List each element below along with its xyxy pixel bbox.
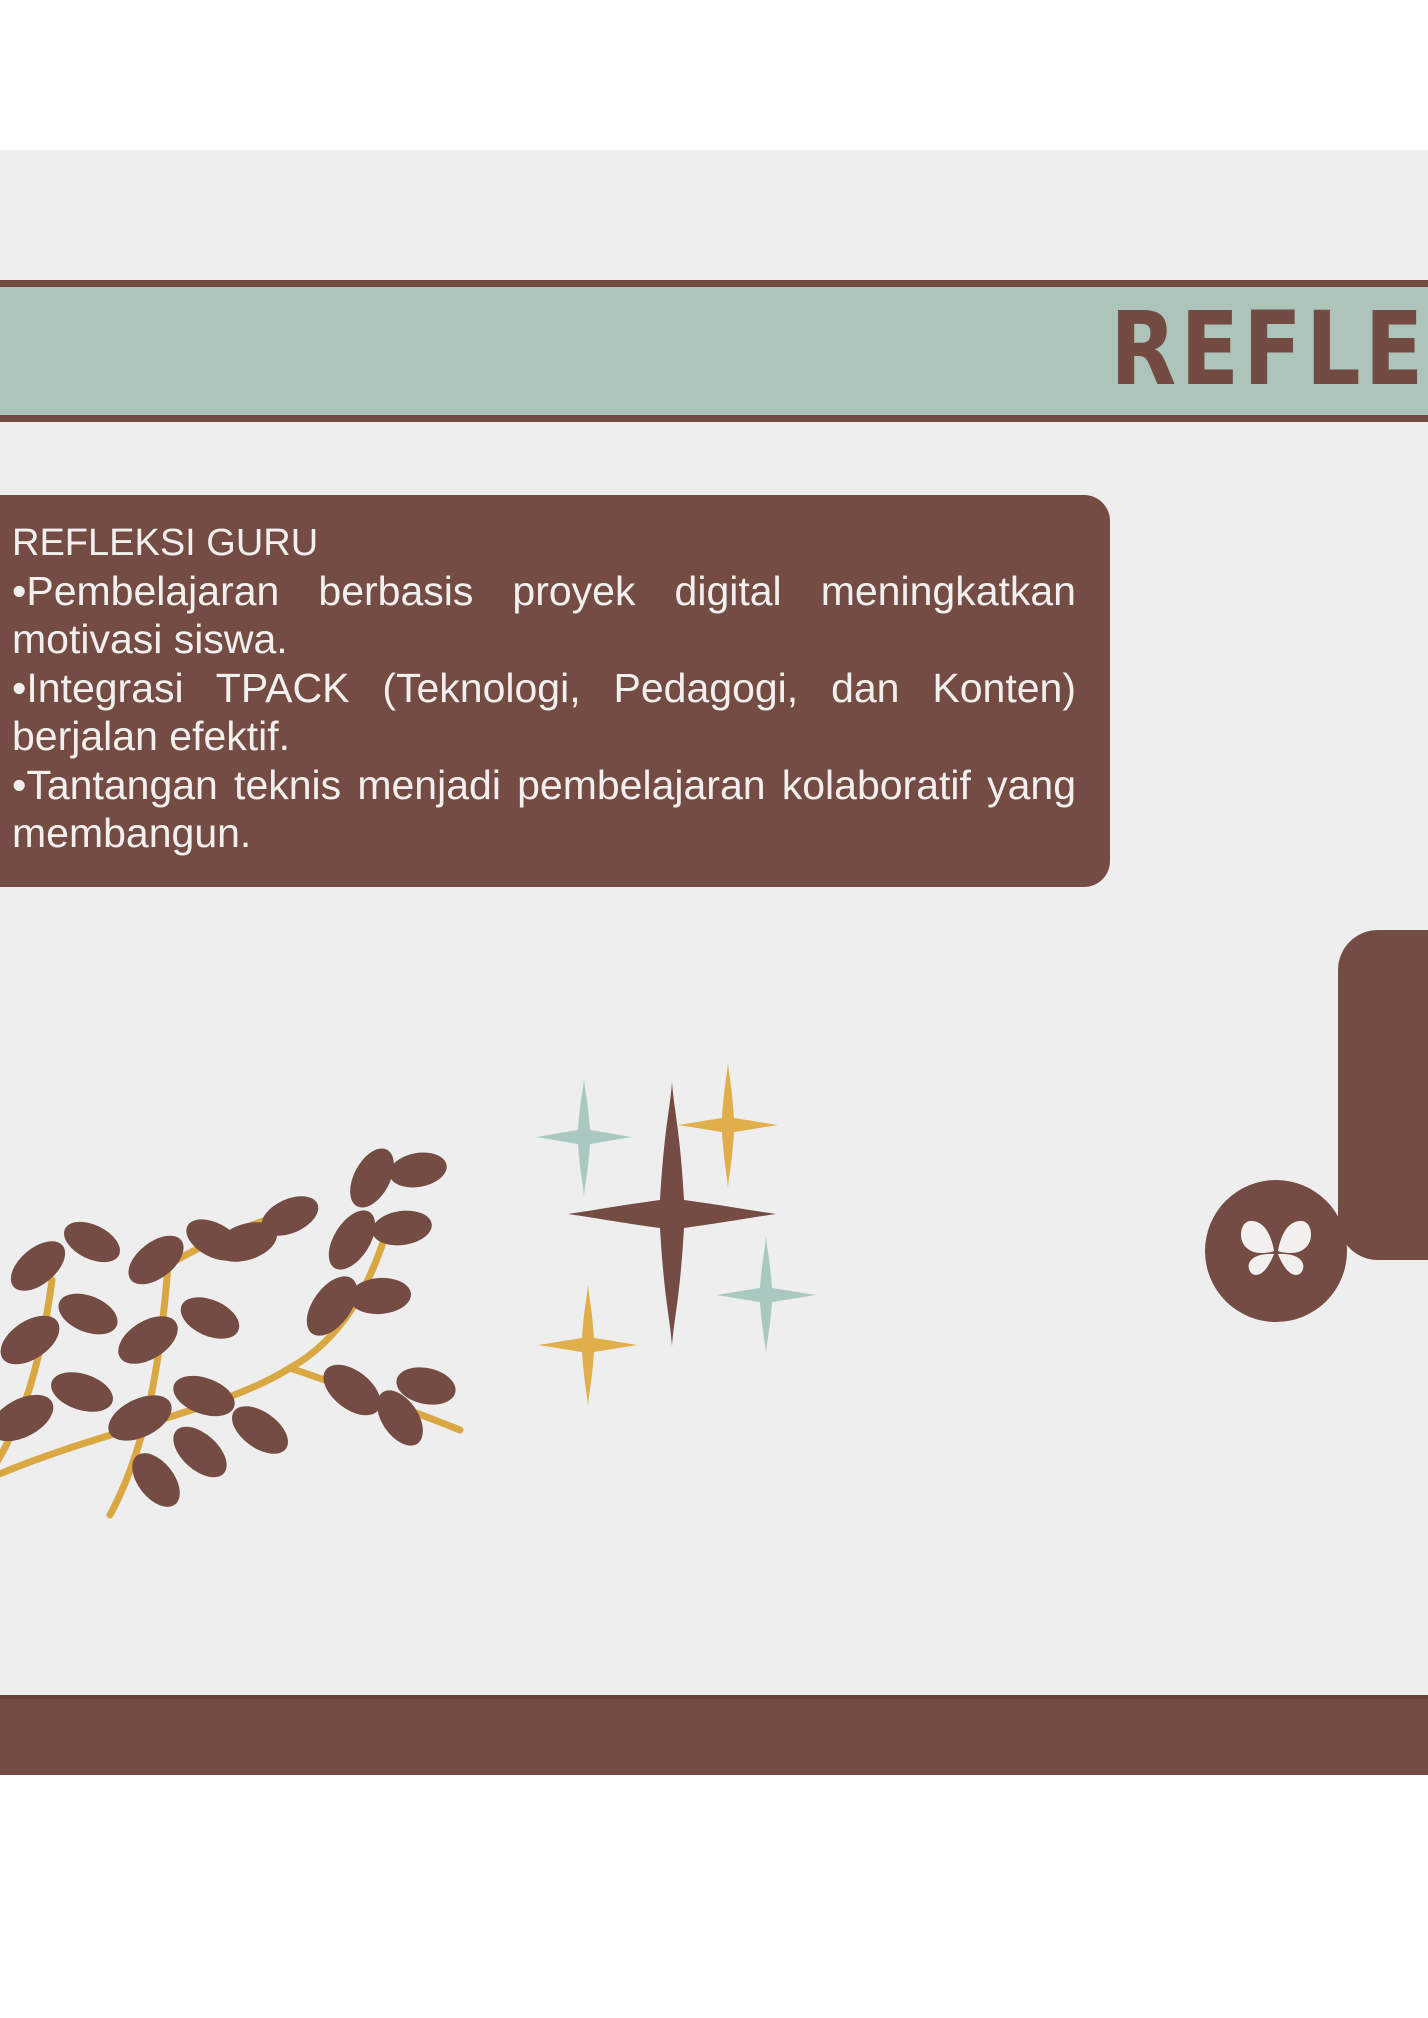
sparkle-large-brown bbox=[568, 1082, 776, 1346]
sparkle-gold-lower bbox=[538, 1284, 638, 1406]
card-heading: REFLEKSI GURU bbox=[12, 521, 1076, 565]
butterfly-icon bbox=[1237, 1215, 1315, 1287]
bullet-item: •Integrasi TPACK (Teknologi, Pedagogi, d… bbox=[12, 664, 1076, 761]
sparkle-small-gold bbox=[678, 1062, 778, 1188]
footer-bar bbox=[0, 1695, 1428, 1775]
right-accent-slab bbox=[1338, 930, 1428, 1260]
slide-canvas: REFLEKSI REFLEKSI GURU •Pembelajaran ber… bbox=[0, 150, 1428, 1775]
bullet-item: •Tantangan teknis menjadi pembelajaran k… bbox=[12, 761, 1076, 858]
bullet-item: •Pembelajaran berbasis proyek digital me… bbox=[12, 567, 1076, 664]
sparkle-cluster bbox=[520, 970, 860, 1390]
butterfly-badge bbox=[1205, 1180, 1347, 1322]
sparkle-sage-lower bbox=[716, 1236, 816, 1354]
sparkle-small-sage bbox=[536, 1078, 632, 1196]
page-title: REFLEKSI bbox=[1110, 291, 1428, 409]
reflection-card: REFLEKSI GURU •Pembelajaran berbasis pro… bbox=[0, 495, 1110, 887]
leafy-branch-illustration bbox=[0, 1100, 520, 1520]
banner-strip: REFLEKSI bbox=[0, 280, 1428, 422]
